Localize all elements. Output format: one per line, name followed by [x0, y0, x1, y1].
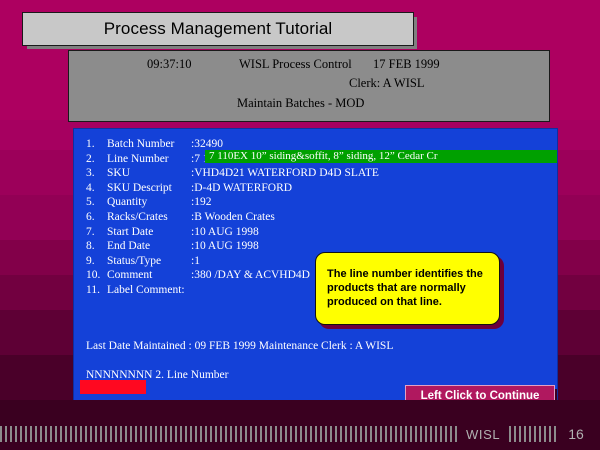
footer-tick — [45, 426, 47, 442]
footer-tick — [360, 426, 362, 442]
footer-tick — [90, 426, 92, 442]
footer-tick — [320, 426, 322, 442]
footer-tick — [405, 426, 407, 442]
slide-page-number: 16 — [568, 426, 584, 442]
terminal-header-panel: 09:37:10 WISL Process Control 17 FEB 199… — [68, 50, 550, 122]
footer-tick — [200, 426, 202, 442]
footer-tick — [165, 426, 167, 442]
slide-canvas: Process Management Tutorial 09:37:10 WIS… — [0, 0, 600, 450]
footer-tick — [380, 426, 382, 442]
footer-brand-label: WISL — [466, 427, 500, 442]
footer-tick — [544, 426, 546, 442]
footer-tick — [10, 426, 12, 442]
footer-tick — [170, 426, 172, 442]
footer-tick — [335, 426, 337, 442]
footer-tick — [325, 426, 327, 442]
footer-tick — [250, 426, 252, 442]
footer-tick — [370, 426, 372, 442]
form-field-label: SKU Descript — [107, 181, 191, 196]
footer-tick-run-right — [509, 426, 559, 442]
footer-tick — [150, 426, 152, 442]
form-field-value: :380 /DAY & ACVHD4D — [191, 268, 310, 283]
footer-tick — [35, 426, 37, 442]
header-clerk: Clerk: A WISL — [349, 76, 424, 91]
footer-tick — [529, 426, 531, 442]
line-number-highlight-bar: 7 110EX 10” siding&soffit, 8” siding, 12… — [205, 150, 557, 163]
form-field-value: :192 — [191, 195, 211, 210]
form-field-value: :10 AUG 1998 — [191, 225, 259, 240]
form-field-value: :B Wooden Crates — [191, 210, 275, 225]
footer-tick — [539, 426, 541, 442]
footer-tick — [225, 426, 227, 442]
header-date: 17 FEB 1999 — [373, 57, 440, 72]
footer-tick — [519, 426, 521, 442]
form-field-number: 9. — [86, 254, 107, 269]
footer-tick — [185, 426, 187, 442]
footer-tick — [130, 426, 132, 442]
footer-tick — [345, 426, 347, 442]
callout-box: The line number identifies the products … — [315, 252, 500, 325]
footer-tick — [80, 426, 82, 442]
footer-tick — [135, 426, 137, 442]
page-title: Process Management Tutorial — [104, 19, 333, 39]
footer-tick — [280, 426, 282, 442]
form-field-label: Status/Type — [107, 254, 191, 269]
footer-decoration-row: WISL 16 — [0, 425, 600, 443]
footer-tick — [514, 426, 516, 442]
footer-tick — [445, 426, 447, 442]
footer-tick — [385, 426, 387, 442]
footer-tick — [245, 426, 247, 442]
footer-tick — [425, 426, 427, 442]
form-field-number: 7. — [86, 225, 107, 240]
footer-tick — [55, 426, 57, 442]
footer-tick — [375, 426, 377, 442]
footer-tick — [300, 426, 302, 442]
footer-tick — [0, 426, 2, 442]
slide-footer: WISL 16 — [0, 400, 600, 450]
footer-tick — [509, 426, 511, 442]
footer-tick — [220, 426, 222, 442]
footer-tick — [534, 426, 536, 442]
footer-tick — [365, 426, 367, 442]
form-field-number: 4. — [86, 181, 107, 196]
form-field-number: 8. — [86, 239, 107, 254]
header-system-name: WISL Process Control — [239, 57, 352, 72]
footer-tick — [415, 426, 417, 442]
footer-tick — [420, 426, 422, 442]
footer-tick — [60, 426, 62, 442]
form-field-value: :10 AUG 1998 — [191, 239, 259, 254]
footer-tick — [195, 426, 197, 442]
footer-tick — [275, 426, 277, 442]
footer-tick — [145, 426, 147, 442]
footer-tick — [355, 426, 357, 442]
form-field-number: 6. — [86, 210, 107, 225]
form-field-value: :1 — [191, 254, 200, 269]
footer-tick — [265, 426, 267, 442]
footer-tick — [549, 426, 551, 442]
form-field-number: 5. — [86, 195, 107, 210]
footer-tick — [110, 426, 112, 442]
footer-tick — [240, 426, 242, 442]
footer-tick — [180, 426, 182, 442]
last-maintained-text: Last Date Maintained : 09 FEB 1999 Maint… — [86, 340, 393, 352]
footer-tick — [100, 426, 102, 442]
form-field-label: SKU — [107, 166, 191, 181]
footer-tick — [430, 426, 432, 442]
footer-tick — [120, 426, 122, 442]
footer-tick — [554, 426, 556, 442]
form-field-row[interactable]: 7.Start Date:10 AUG 1998 — [86, 225, 379, 240]
form-field-label: Quantity — [107, 195, 191, 210]
form-field-row[interactable]: 6.Racks/Crates:B Wooden Crates — [86, 210, 379, 225]
footer-tick — [235, 426, 237, 442]
header-time: 09:37:10 — [147, 57, 191, 72]
footer-tick — [350, 426, 352, 442]
form-field-label: End Date — [107, 239, 191, 254]
footer-tick — [125, 426, 127, 442]
footer-tick — [524, 426, 526, 442]
form-field-value: :D-4D WATERFORD — [191, 181, 292, 196]
footer-tick — [450, 426, 452, 442]
footer-tick — [95, 426, 97, 442]
footer-tick — [395, 426, 397, 442]
footer-tick — [75, 426, 77, 442]
footer-tick — [410, 426, 412, 442]
footer-tick — [30, 426, 32, 442]
form-field-number: 3. — [86, 166, 107, 181]
footer-tick — [40, 426, 42, 442]
footer-tick — [285, 426, 287, 442]
form-field-number: 2. — [86, 152, 107, 167]
form-field-row[interactable]: 4.SKU Descript:D-4D WATERFORD — [86, 181, 379, 196]
form-field-label: Line Number — [107, 152, 191, 167]
footer-tick — [330, 426, 332, 442]
footer-tick — [455, 426, 457, 442]
form-field-row[interactable]: 5.Quantity:192 — [86, 195, 379, 210]
footer-tick — [255, 426, 257, 442]
footer-tick — [215, 426, 217, 442]
footer-tick — [315, 426, 317, 442]
footer-tick — [340, 426, 342, 442]
footer-tick — [435, 426, 437, 442]
footer-tick — [270, 426, 272, 442]
callout-text: The line number identifies the products … — [327, 267, 490, 309]
form-field-number: 10. — [86, 268, 107, 283]
footer-tick — [260, 426, 262, 442]
footer-tick — [140, 426, 142, 442]
footer-tick — [20, 426, 22, 442]
footer-tick — [85, 426, 87, 442]
form-field-label: Comment — [107, 268, 191, 283]
footer-tick — [205, 426, 207, 442]
form-field-label: Label Comment: — [107, 283, 191, 298]
footer-tick — [210, 426, 212, 442]
footer-tick — [70, 426, 72, 442]
footer-tick — [440, 426, 442, 442]
footer-tick — [25, 426, 27, 442]
line-number-input[interactable] — [80, 380, 146, 394]
footer-tick — [115, 426, 117, 442]
slide-title-box: Process Management Tutorial — [22, 12, 414, 46]
footer-tick — [155, 426, 157, 442]
footer-tick — [310, 426, 312, 442]
footer-tick — [160, 426, 162, 442]
form-field-row[interactable]: 3.SKU:VHD4D21 WATERFORD D4D SLATE — [86, 166, 379, 181]
footer-tick — [305, 426, 307, 442]
footer-tick — [175, 426, 177, 442]
footer-tick — [390, 426, 392, 442]
form-field-label: Batch Number — [107, 137, 191, 152]
form-field-label: Racks/Crates — [107, 210, 191, 225]
footer-tick — [230, 426, 232, 442]
footer-tick — [15, 426, 17, 442]
footer-tick — [65, 426, 67, 442]
form-field-number: 11. — [86, 283, 107, 298]
footer-tick — [105, 426, 107, 442]
footer-tick — [290, 426, 292, 442]
footer-tick — [190, 426, 192, 442]
form-field-number: 1. — [86, 137, 107, 152]
footer-tick — [295, 426, 297, 442]
header-screen-name: Maintain Batches - MOD — [237, 96, 364, 111]
footer-tick — [5, 426, 7, 442]
form-field-value: :VHD4D21 WATERFORD D4D SLATE — [191, 166, 379, 181]
form-field-label: Start Date — [107, 225, 191, 240]
footer-tick-run-left — [0, 426, 460, 442]
footer-tick — [400, 426, 402, 442]
footer-tick — [50, 426, 52, 442]
